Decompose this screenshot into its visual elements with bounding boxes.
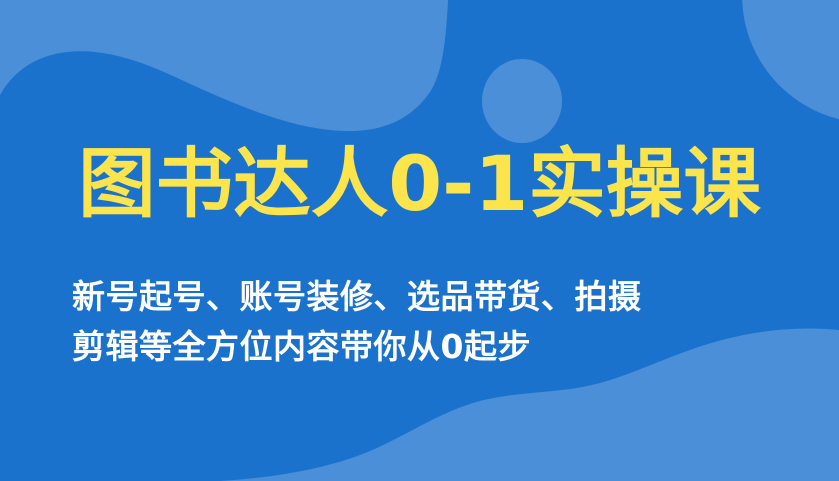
page-title: 图书达人0-1实操课 <box>0 136 839 232</box>
course-banner: 图书达人0-1实操课 新号起号、账号装修、选品带货、拍摄 剪辑等全方位内容带你从… <box>0 0 839 481</box>
subtitle-line-2: 剪辑等全方位内容带你从0起步 <box>72 322 772 372</box>
banner-subtitle: 新号起号、账号装修、选品带货、拍摄 剪辑等全方位内容带你从0起步 <box>72 272 772 372</box>
subtitle-line-1: 新号起号、账号装修、选品带货、拍摄 <box>72 272 772 322</box>
banner-content: 图书达人0-1实操课 新号起号、账号装修、选品带货、拍摄 剪辑等全方位内容带你从… <box>0 0 839 481</box>
